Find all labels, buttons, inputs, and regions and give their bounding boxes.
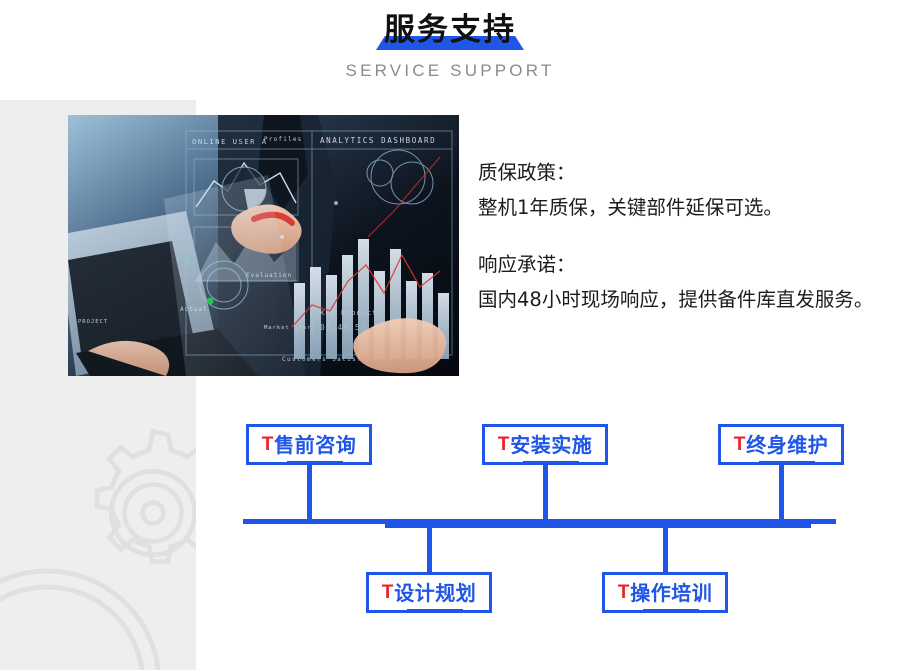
analytics-dashboard-photo: ONLINE USER A Profiles ANALYTICS DASHBOA… <box>68 115 459 376</box>
svg-text:ONLINE USER A: ONLINE USER A <box>192 138 268 146</box>
flow-trunk-segment-5 <box>629 519 836 524</box>
service-info-block: 质保政策： 整机1年质保，关键部件延保可选。 响应承诺： 国内48小时现场响应，… <box>478 155 890 317</box>
flow-node-label: 设计规划 <box>394 577 476 608</box>
title-wrap: 服务支持 <box>384 8 516 52</box>
flow-node-installation[interactable]: T 安装实施 <box>482 424 608 465</box>
page-header: 服务支持 SERVICE SUPPORT <box>0 0 900 81</box>
svg-text:ANALYTICS DASHBOARD: ANALYTICS DASHBOARD <box>320 136 436 145</box>
node-prefix-icon: T <box>382 582 394 604</box>
page-subtitle: SERVICE SUPPORT <box>0 61 900 81</box>
node-prefix-icon: T <box>498 434 510 456</box>
warranty-heading: 质保政策： <box>478 155 890 190</box>
info-spacer <box>478 225 890 247</box>
response-text: 国内48小时现场响应，提供备件库直发服务。 <box>478 282 890 317</box>
flow-connector-installation <box>543 465 548 521</box>
page-title: 服务支持 <box>384 8 516 52</box>
flow-node-label: 终身维护 <box>746 429 828 460</box>
flow-node-presale[interactable]: T 售前咨询 <box>246 424 372 465</box>
node-prefix-icon: T <box>262 434 274 456</box>
flow-connector-presale <box>307 465 312 521</box>
warranty-text: 整机1年质保，关键部件延保可选。 <box>478 190 890 225</box>
flow-node-label: 售前咨询 <box>274 429 356 460</box>
flow-connector-design-planning <box>427 522 432 574</box>
flow-connector-operation-training <box>663 522 668 574</box>
node-prefix-icon: T <box>618 582 630 604</box>
flow-connector-lifetime-maintenance <box>779 465 784 523</box>
svg-text:Profiles: Profiles <box>264 136 303 143</box>
node-prefix-icon: T <box>734 434 746 456</box>
flow-node-operation-training[interactable]: T 操作培训 <box>602 572 728 613</box>
service-flow-chart: T 售前咨询 T 安装实施 T 终身维护 T 设计规划 T 操作培训 <box>0 400 900 670</box>
svg-text:PROJECT: PROJECT <box>78 319 108 325</box>
flow-node-design-planning[interactable]: T 设计规划 <box>366 572 492 613</box>
response-heading: 响应承诺： <box>478 247 890 282</box>
flow-node-lifetime-maintenance[interactable]: T 终身维护 <box>718 424 844 465</box>
flow-node-label: 操作培训 <box>630 577 712 608</box>
flow-trunk-segment-1 <box>243 519 393 524</box>
flow-node-label: 安装实施 <box>510 429 592 460</box>
